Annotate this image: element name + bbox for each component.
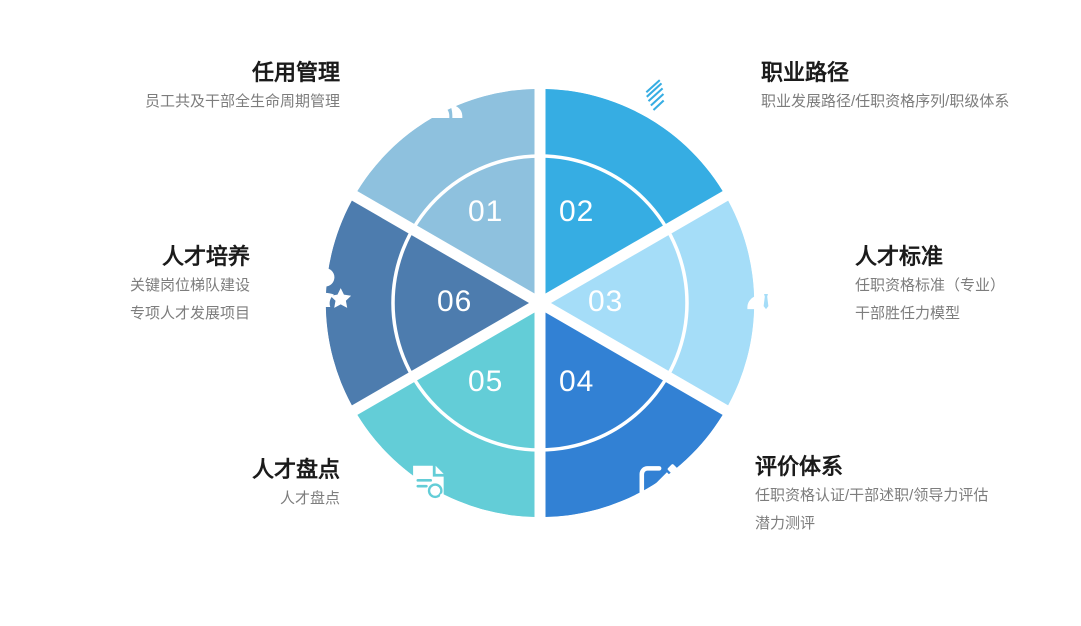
label-04-sub-1: 潜力测评 [755, 510, 1081, 538]
six-petal-flower: 01 02 03 04 05 06 [255, 18, 825, 588]
label-04[interactable]: 评价体系 任职资格认证/干部述职/领导力评估 潜力测评 [755, 452, 1081, 538]
label-02-sub-0: 职业发展路径/任职资格序列/职级体系 [761, 88, 1081, 116]
label-03-sub-1: 干部胜任力模型 [855, 300, 1081, 328]
diagram-canvas: 01 02 03 04 05 06 [0, 0, 1081, 626]
label-01[interactable]: 任用管理 员工共及干部全生命周期管理 [30, 58, 340, 116]
label-04-title: 评价体系 [755, 452, 1081, 482]
label-01-title: 任用管理 [30, 58, 340, 88]
label-05-title: 人才盘点 [110, 455, 340, 485]
label-06[interactable]: 人才培养 关键岗位梯队建设 专项人才发展项目 [30, 242, 250, 328]
label-03[interactable]: 人才标准 任职资格标准（专业） 干部胜任力模型 [855, 242, 1081, 328]
label-06-sub-0: 关键岗位梯队建设 [30, 272, 250, 300]
label-05[interactable]: 人才盘点 人才盘点 [110, 455, 340, 513]
label-01-sub-0: 员工共及干部全生命周期管理 [30, 88, 340, 116]
label-06-title: 人才培养 [30, 242, 250, 272]
label-02-title: 职业路径 [761, 58, 1081, 88]
label-02[interactable]: 职业路径 职业发展路径/任职资格序列/职级体系 [761, 58, 1081, 116]
label-05-sub-0: 人才盘点 [110, 485, 340, 513]
label-04-sub-0: 任职资格认证/干部述职/领导力评估 [755, 482, 1081, 510]
label-03-sub-0: 任职资格标准（专业） [855, 272, 1081, 300]
label-06-sub-1: 专项人才发展项目 [30, 300, 250, 328]
label-03-title: 人才标准 [855, 242, 1081, 272]
